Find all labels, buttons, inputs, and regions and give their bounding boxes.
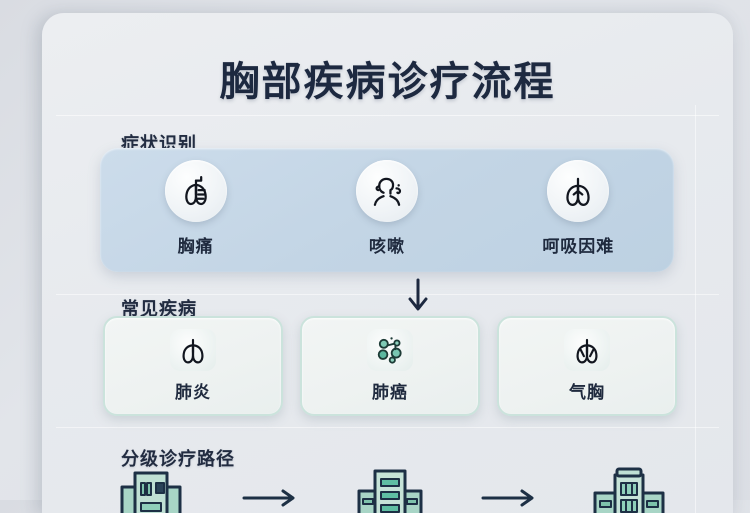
disease-card-lung-cancer[interactable]: 肺癌 (300, 316, 480, 416)
tertiary-hospital-icon (591, 465, 667, 513)
pathway-step-list (103, 465, 677, 513)
infographic-card: 胸部疾病诊疗流程 症状识别 (42, 13, 733, 513)
lungs-icon (559, 172, 597, 210)
lungs-icon (176, 333, 210, 367)
lungs-collapsed-icon (570, 333, 604, 367)
symptoms-panel: 胸痛 咳嗽 (100, 148, 674, 272)
disease-icon-wrap (564, 329, 610, 371)
symptom-icon-circle (165, 160, 227, 222)
panel-seam-right (695, 105, 696, 513)
disease-card-pneumonia[interactable]: 肺炎 (103, 316, 283, 416)
symptom-icon-circle (547, 160, 609, 222)
disease-icon-wrap (367, 329, 413, 371)
clinic-building-icon (116, 465, 186, 513)
symptom-item-chest-pain[interactable]: 胸痛 (121, 160, 271, 257)
arrow-right-icon (470, 465, 550, 507)
symptom-list: 胸痛 咳嗽 (100, 148, 674, 272)
arrow-down-icon (406, 278, 430, 314)
page-title: 胸部疾病诊疗流程 (42, 49, 733, 107)
arrow-right-icon (231, 465, 311, 507)
panel-seam-lower (56, 427, 719, 428)
hospital-building-icon (355, 465, 425, 513)
symptom-label: 呵吸因难 (542, 232, 614, 257)
pathway-step-hospital[interactable] (342, 465, 438, 513)
symptom-item-dyspnea[interactable]: 呵吸因难 (503, 160, 653, 257)
symptom-item-cough[interactable]: 咳嗽 (312, 160, 462, 257)
disease-label: 气胸 (569, 378, 605, 403)
lungs-ribs-icon (177, 172, 215, 210)
pathway-step-tertiary-hospital[interactable] (581, 465, 677, 513)
pathway-step-clinic[interactable] (103, 465, 199, 513)
disease-icon-wrap (170, 329, 216, 371)
symptom-label: 咳嗽 (369, 232, 405, 257)
disease-label: 肺癌 (372, 378, 408, 403)
disease-card-pneumothorax[interactable]: 气胸 (497, 316, 677, 416)
tumor-cells-icon (373, 333, 407, 367)
disease-label: 肺炎 (175, 378, 211, 403)
disease-card-list: 肺炎 肺癌 (103, 316, 677, 416)
symptom-label: 胸痛 (178, 232, 214, 257)
symptom-icon-circle (356, 160, 418, 222)
coughing-person-icon (368, 172, 406, 210)
